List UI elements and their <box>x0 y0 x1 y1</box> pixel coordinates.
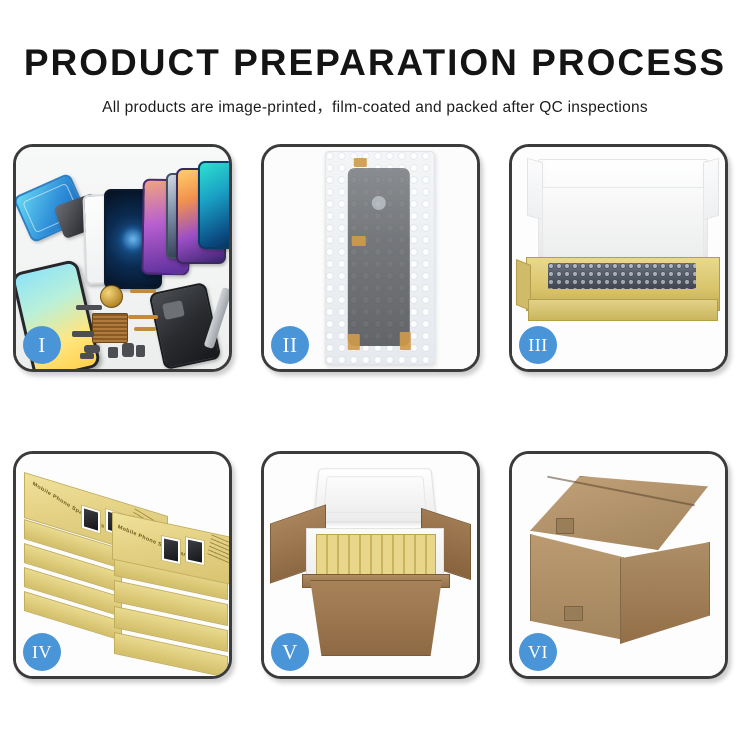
bubble-wrap-layer-icon <box>548 263 696 289</box>
flex-cable-icon <box>130 289 156 293</box>
step-badge-6: VI <box>519 633 557 671</box>
header: PRODUCT PREPARATION PROCESS All products… <box>0 0 750 116</box>
chip-grid-icon <box>92 313 128 343</box>
box-window-icon <box>161 535 181 565</box>
steps-grid: I II <box>13 144 737 679</box>
flex-cable-icon <box>128 315 158 319</box>
teal-phone-icon <box>198 161 229 249</box>
box-window-icon <box>81 504 101 534</box>
step-panel-3[interactable]: III <box>509 144 728 372</box>
step-badge-3: III <box>519 326 557 364</box>
flex-cable-icon <box>134 327 156 331</box>
part-icon <box>84 345 100 353</box>
step-panel-4[interactable]: Mobile Phone Spare Parts Mobile Phone Sp… <box>13 451 232 679</box>
carton-front-icon <box>306 580 446 656</box>
part-icon <box>72 331 94 337</box>
foam-sheet-icon <box>542 187 704 259</box>
page-title: PRODUCT PREPARATION PROCESS <box>0 0 750 81</box>
wrapped-screen-icon <box>348 168 410 346</box>
carton-tape-icon <box>564 606 583 621</box>
yellow-boxes-icon <box>316 534 436 578</box>
page-subtitle: All products are image-printed，film-coat… <box>0 81 750 116</box>
steps-row-2: Mobile Phone Spare Parts Mobile Phone Sp… <box>13 451 737 679</box>
step-badge-5: V <box>271 633 309 671</box>
step-badge-4: IV <box>23 633 61 671</box>
box-spec-lines-icon <box>207 534 229 569</box>
step-badge-2: II <box>271 326 309 364</box>
carton-side-icon <box>620 542 710 644</box>
steps-row-1: I II <box>13 144 737 372</box>
tape-icon <box>400 332 411 350</box>
step-panel-5[interactable]: V <box>261 451 480 679</box>
carton-tape-icon <box>556 518 574 534</box>
step-panel-2[interactable]: II <box>261 144 480 372</box>
tape-icon <box>354 158 367 167</box>
tape-icon <box>348 334 360 350</box>
step-badge-1: I <box>23 326 61 364</box>
step-panel-1[interactable]: I <box>13 144 232 372</box>
product-preparation-infographic: PRODUCT PREPARATION PROCESS All products… <box>0 0 750 750</box>
part-icon <box>122 343 134 357</box>
carton-front-icon <box>530 534 624 640</box>
foam-lid-icon <box>313 468 437 522</box>
part-icon <box>76 305 102 310</box>
tape-icon <box>352 236 366 246</box>
part-icon <box>80 353 94 359</box>
part-icon <box>136 345 145 357</box>
bubble-wrap-bag-icon <box>325 151 435 365</box>
kraft-tray-front-icon <box>528 299 718 321</box>
carton-top-icon <box>530 476 708 550</box>
step-panel-6[interactable]: VI <box>509 451 728 679</box>
speaker-part-icon <box>100 285 123 308</box>
part-icon <box>108 347 118 358</box>
box-window-icon <box>185 536 205 566</box>
